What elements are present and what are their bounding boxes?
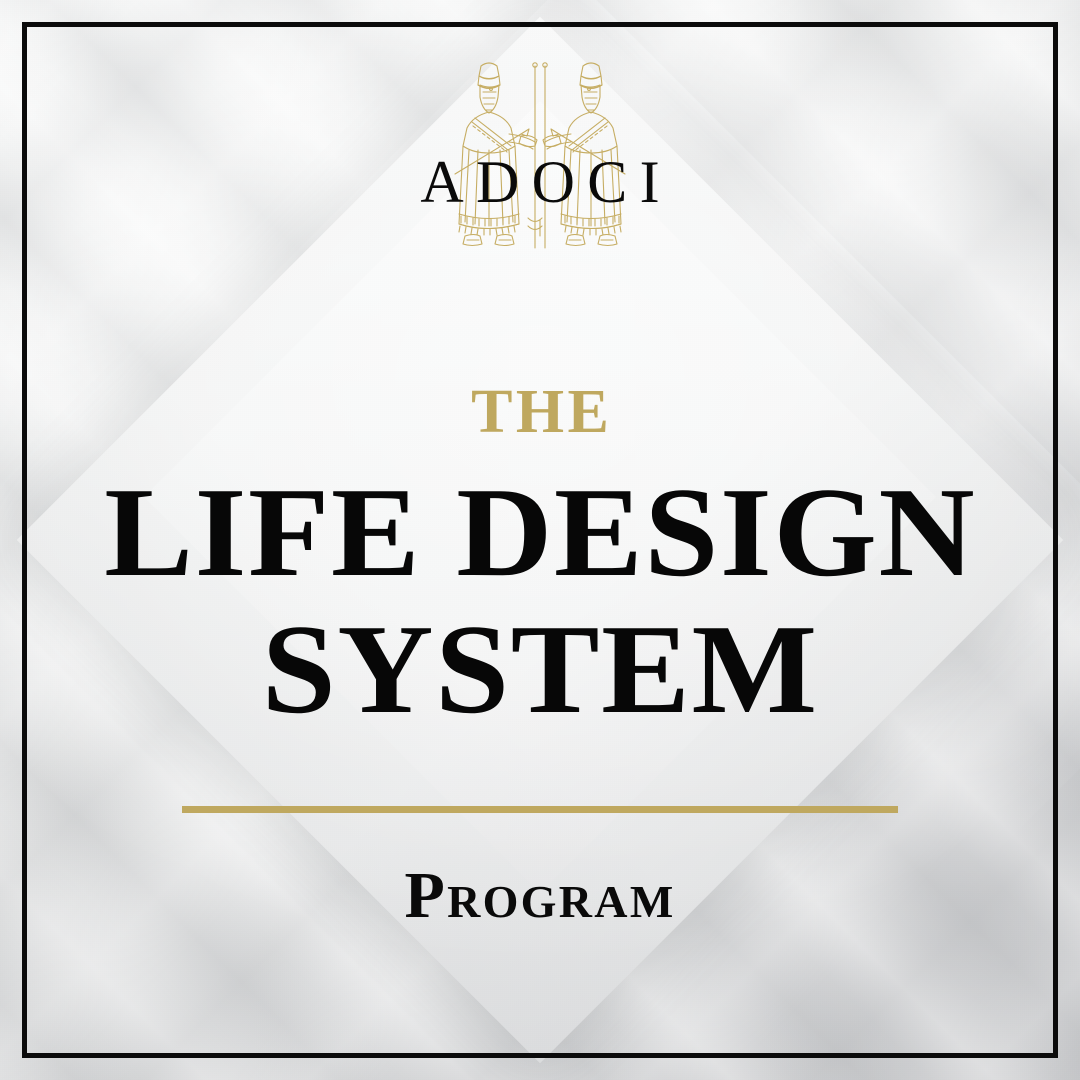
title-line-2: SYSTEM bbox=[104, 604, 976, 735]
brand-wordmark: ADOCI bbox=[408, 152, 672, 212]
brand-lockup: ADOCI bbox=[405, 48, 675, 273]
title-line-1: LIFE DESIGN bbox=[104, 461, 976, 603]
gold-divider bbox=[182, 806, 898, 813]
title-eyebrow: THE bbox=[468, 381, 613, 443]
poster-canvas: ADOCI THE LIFE DESIGN SYSTEM Program bbox=[0, 0, 1080, 1080]
program-label: Program bbox=[404, 863, 675, 929]
poster-content: ADOCI THE LIFE DESIGN SYSTEM Program bbox=[0, 0, 1080, 1080]
page-title: LIFE DESIGN SYSTEM bbox=[104, 467, 976, 734]
